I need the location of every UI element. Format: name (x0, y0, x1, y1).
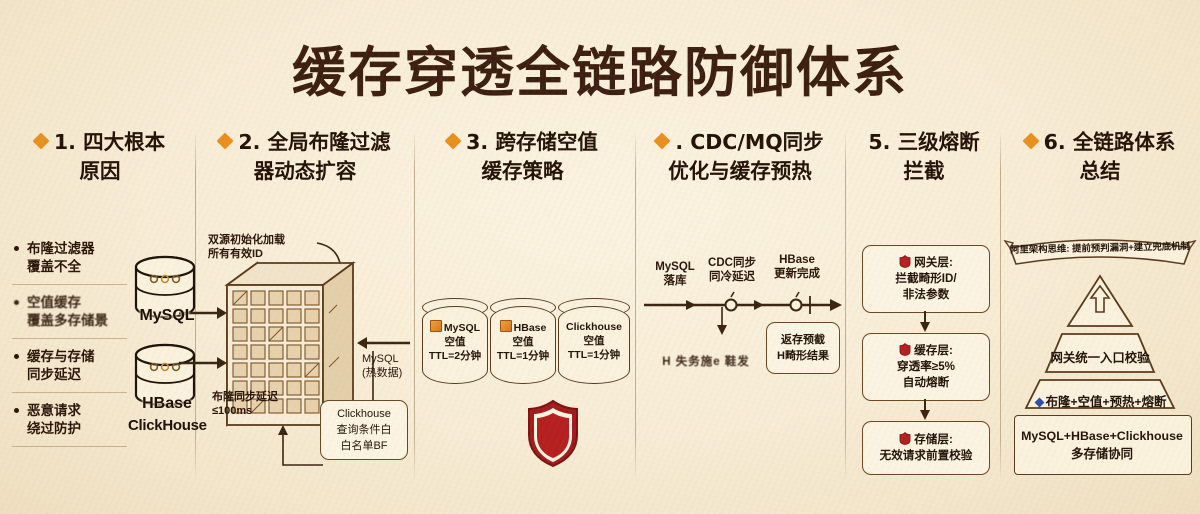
diamond-bullet-icon (654, 133, 671, 150)
column-divider-5 (1000, 130, 1001, 480)
timeline-label-3: HBase 更新完成 (766, 253, 828, 281)
database-label-hbase: HBase (128, 395, 206, 413)
list-item: 空值缓存 覆盖多存储景 (12, 294, 134, 330)
column-divider-3 (635, 130, 636, 480)
shield-icon (899, 432, 911, 445)
flow-arrow-icon (918, 399, 932, 421)
column-header-3: 3. 跨存储空值 缓存策略 (420, 128, 625, 186)
fuse-layer-cache: 缓存层: 穿透率≥5% 自动熔断 (862, 333, 990, 401)
store-cylinder-hbase: HBase 空值 TTL=1分钟 (490, 298, 556, 390)
timeline-label-1: MySQL 落库 (648, 260, 702, 288)
cylinder-text: Clickhouse 空值 TTL=1分钟 (558, 320, 630, 362)
column-header-4: . CDC/MQ同步 优化与缓存预热 (640, 128, 840, 186)
bloom-bottom-label: 布隆同步延迟 ≤100ms (212, 390, 322, 418)
pyramid-base-text: MySQL+HBase+Clickhouse 多存储协同 (1014, 427, 1190, 463)
store-cylinder-mysql: MySQL 空值 TTL=2分钟 (422, 298, 488, 390)
bloom-right-label: MySQL (热数据) (362, 352, 422, 380)
page-title: 缓存穿透全链路防御体系 (0, 28, 1200, 107)
package-icon (500, 320, 512, 332)
diamond-bullet-icon (1022, 133, 1039, 150)
pyramid-tier-2: 网关统一入口校验 (1030, 348, 1170, 366)
clickhouse-whitelist-box: Clickhouse 查询条件白 白名单BF (320, 400, 408, 460)
fuse-layer-head: 存储层: (899, 432, 953, 448)
column-three-level-fuse: 5. 三级熔断 拦截 (850, 128, 998, 186)
store-cylinder-clickhouse: Clickhouse 空值 TTL=1分钟 (558, 298, 630, 390)
list-divider (12, 338, 127, 339)
list-item: 布隆过滤器 覆盖不全 (12, 240, 134, 276)
list-divider (12, 284, 127, 285)
diamond-marker-icon (1034, 398, 1044, 408)
column-header-5: 5. 三级熔断 拦截 (850, 128, 998, 186)
list-divider (12, 446, 127, 447)
diamond-bullet-icon (445, 133, 462, 150)
cdc-drop-label: H 失务施e 鞋发 (646, 355, 766, 369)
fuse-layer-storage: 存储层: 无效请求前置校验 (862, 421, 990, 475)
column-header-6: 6. 全链路体系 总结 (1005, 128, 1195, 186)
shield-icon (899, 343, 911, 356)
database-label-clickhouse: ClickHouse (128, 417, 206, 434)
cylinder-text: MySQL 空值 TTL=2分钟 (422, 320, 488, 363)
diamond-bullet-icon (32, 133, 49, 150)
column-divider-4 (845, 130, 846, 480)
shield-icon (525, 398, 581, 468)
column-root-causes: 1. 四大根本 原因 (10, 128, 190, 186)
list-item: 缓存与存储 同步延迟 (12, 348, 134, 384)
infographic-page: 缓存穿透全链路防御体系 1. 四大根本 原因 布隆过滤器 覆盖不全 空值缓存 覆… (0, 0, 1200, 514)
cdc-result-box: 返存预截 H畸形结果 (766, 322, 840, 374)
cylinder-text: HBase 空值 TTL=1分钟 (490, 320, 556, 363)
column-header-2: 2. 全局布隆过滤 器动态扩容 (200, 128, 410, 186)
column-summary: 6. 全链路体系 总结 (1005, 128, 1195, 186)
shield-icon (899, 255, 911, 268)
column-header-1: 1. 四大根本 原因 (10, 128, 190, 186)
database-label-mysql: MySQL (128, 307, 206, 325)
pyramid-tier-3: 布隆+空值+预热+熔断 (1016, 392, 1186, 410)
flow-arrow-icon (918, 311, 932, 333)
column-bloom-filter: 2. 全局布隆过滤 器动态扩容 (200, 128, 410, 186)
root-cause-list: 布隆过滤器 覆盖不全 空值缓存 覆盖多存储景 缓存与存储 同步延迟 恶意请求 绕… (12, 240, 134, 456)
pyramid-diagram (1008, 268, 1192, 408)
timeline-label-2: CDC同步 同冷延迟 (702, 256, 762, 284)
column-null-cache: 3. 跨存储空值 缓存策略 (420, 128, 625, 186)
fuse-layer-head: 网关层: (899, 255, 953, 271)
column-divider-2 (414, 130, 415, 480)
fuse-layer-head: 缓存层: (899, 343, 953, 359)
fuse-layer-body: 拦截畸形ID/ 非法参数 (895, 271, 956, 303)
package-icon (430, 320, 442, 332)
fuse-layer-body: 穿透率≥5% 自动熔断 (897, 359, 955, 391)
column-cdc-mq: . CDC/MQ同步 优化与缓存预热 (640, 128, 840, 186)
list-item: 恶意请求 绕过防护 (12, 402, 134, 438)
fuse-layer-body: 无效请求前置校验 (880, 448, 973, 464)
list-divider (12, 392, 127, 393)
fuse-layer-gateway: 网关层: 拦截畸形ID/ 非法参数 (862, 245, 990, 313)
diamond-bullet-icon (217, 133, 234, 150)
database-stack: MySQL HBase ClickHouse (128, 255, 206, 434)
